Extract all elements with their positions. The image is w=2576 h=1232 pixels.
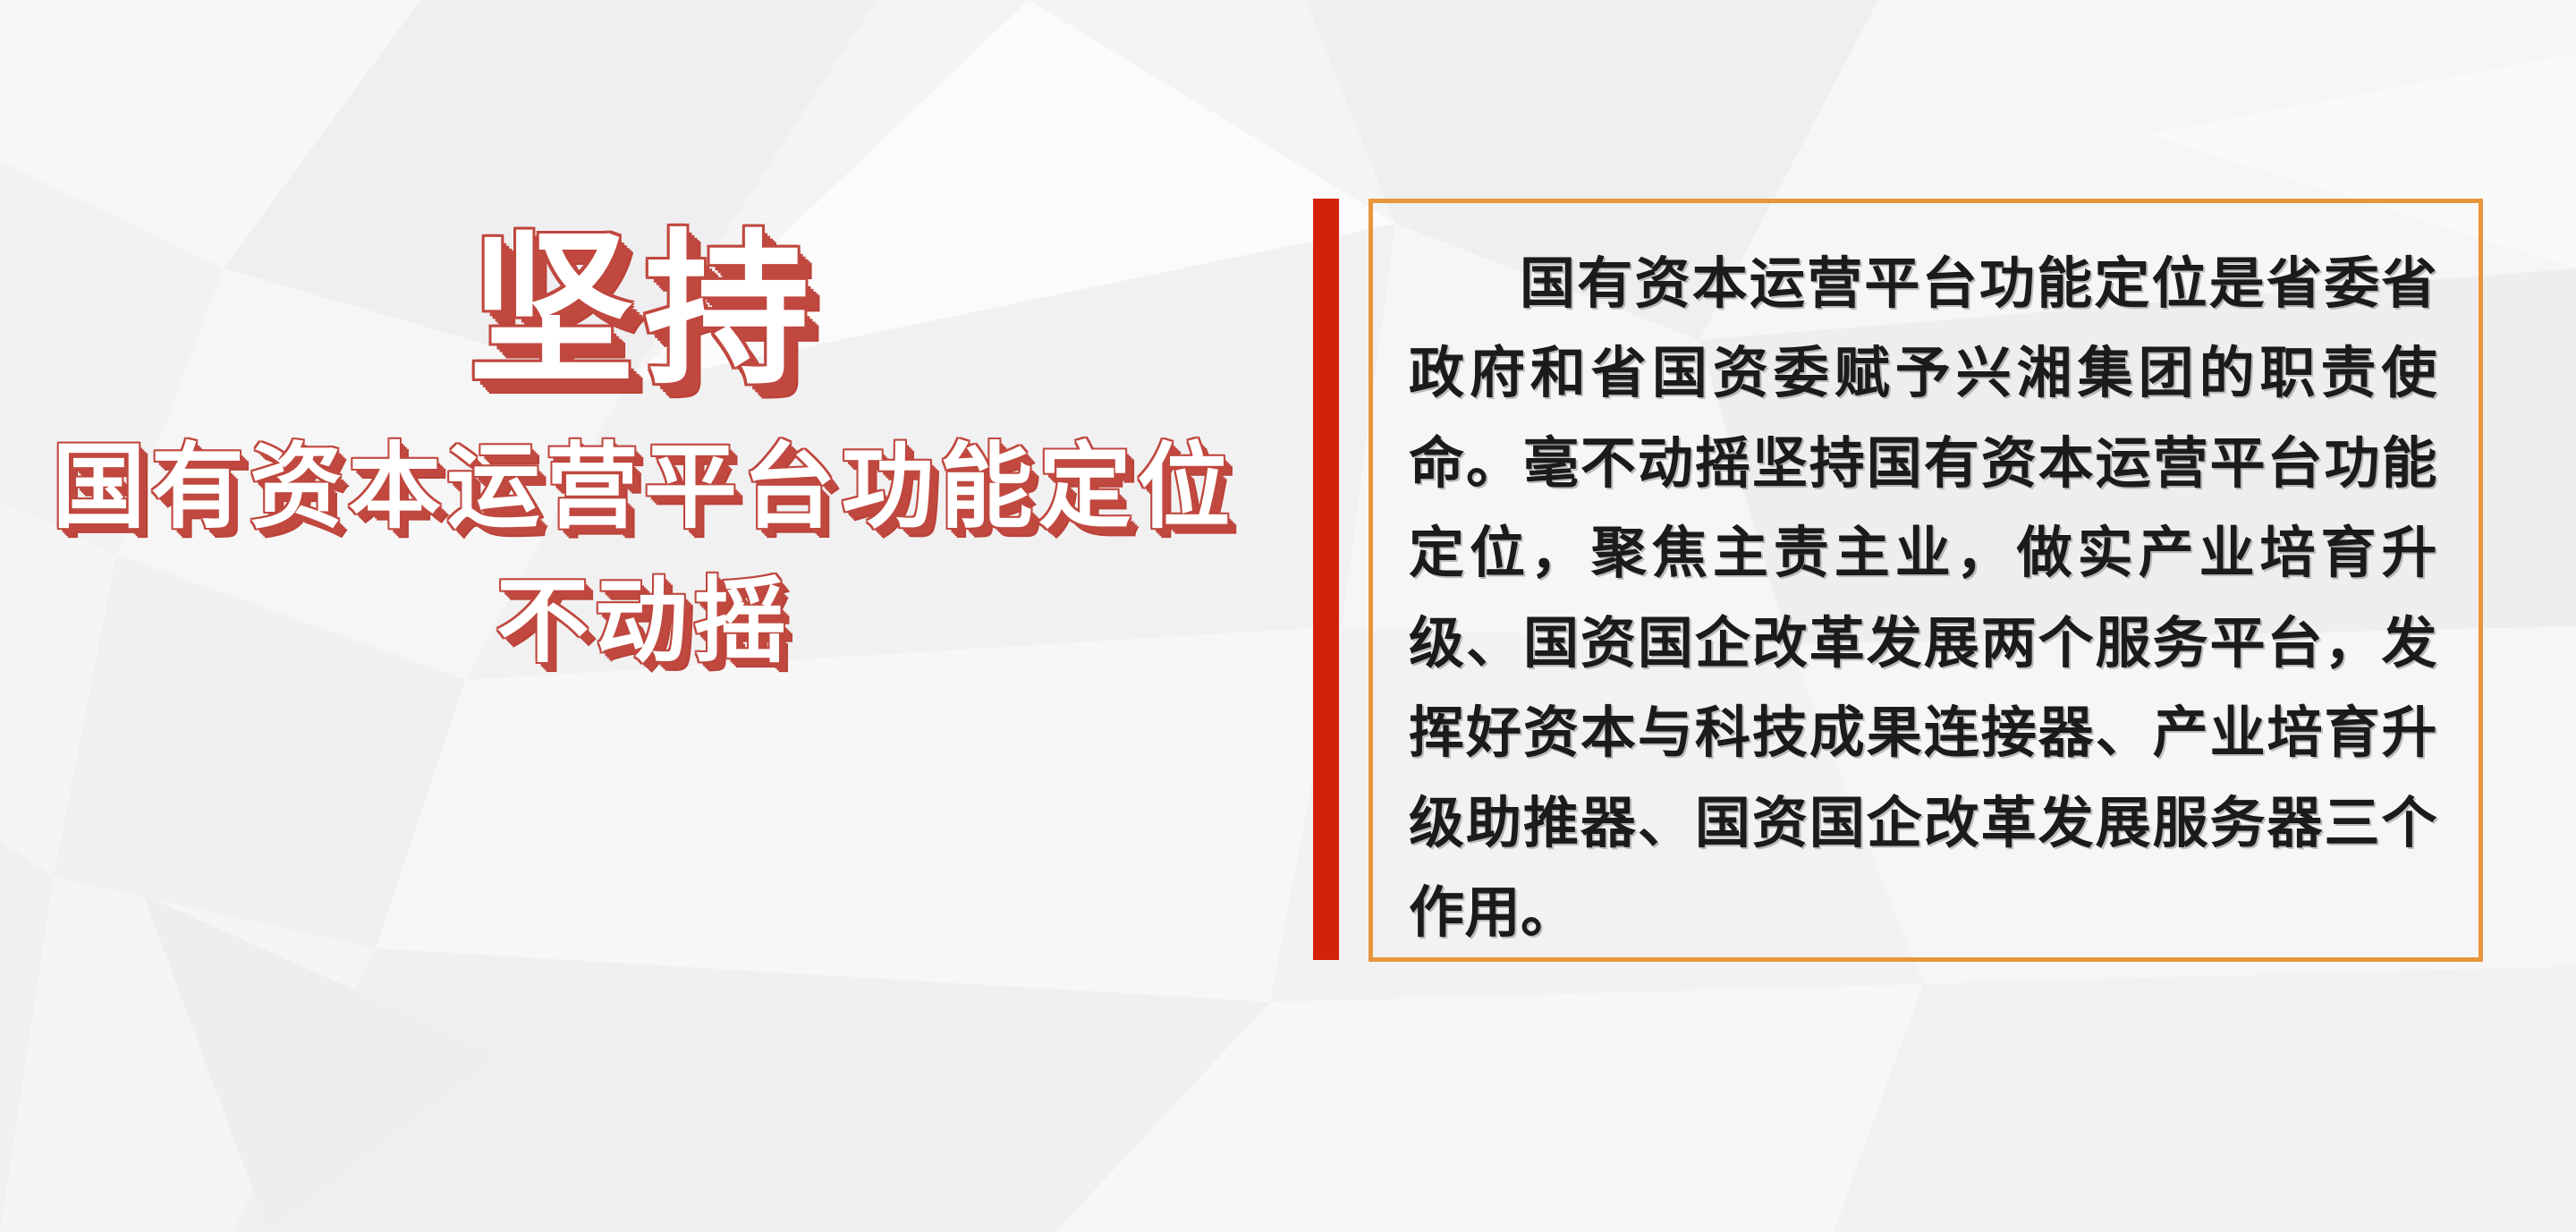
slide-canvas: 坚持 国有资本运营平台功能定位 不动摇 国有资本运营平台功能定位是省委省政府和省…	[0, 0, 2576, 1232]
page-title-sub-line-2: 不动摇	[0, 574, 1288, 667]
title-block: 坚持 国有资本运营平台功能定位 不动摇	[0, 228, 1288, 667]
page-title-sub-line-1: 国有资本运营平台功能定位	[0, 440, 1288, 533]
page-title-main: 坚持	[0, 228, 1288, 394]
red-accent-bar	[1313, 199, 1339, 960]
quote-callout-box: 国有资本运营平台功能定位是省委省政府和省国资委赋予兴湘集团的职责使命。毫不动摇坚…	[1368, 199, 2483, 962]
quote-paragraph: 国有资本运营平台功能定位是省委省政府和省国资委赋予兴湘集团的职责使命。毫不动摇坚…	[1373, 203, 2479, 957]
